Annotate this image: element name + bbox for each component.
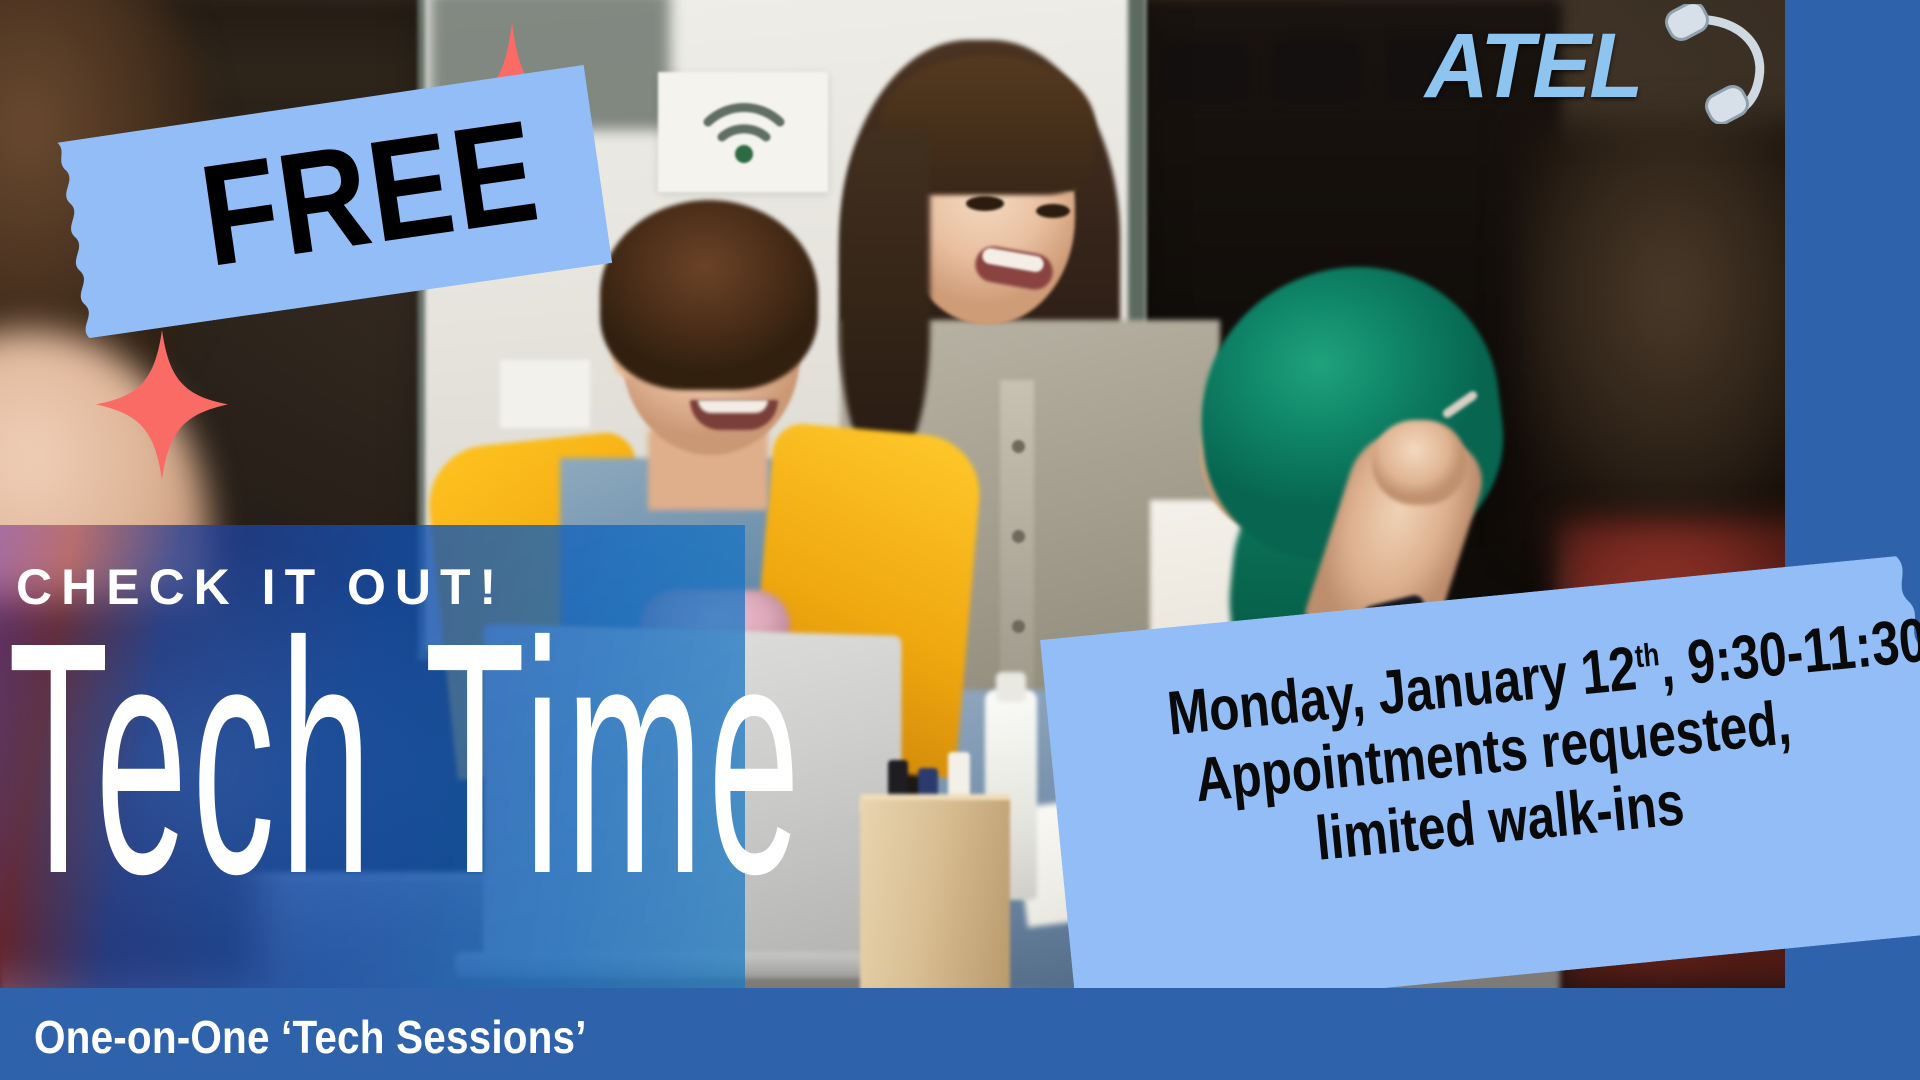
atel-wordmark: ATEL [1425, 14, 1641, 119]
atel-logo: ATEL [1425, 6, 1765, 124]
shirt-button [1012, 440, 1025, 453]
cabinet-square [1270, 38, 1362, 102]
shirt-button [1012, 620, 1025, 633]
man-teeth [698, 400, 768, 413]
wifi-icon [700, 92, 788, 168]
headscarf-woman-hand [1372, 420, 1467, 505]
woman-eye [1036, 204, 1070, 218]
shirt-button [1012, 530, 1025, 543]
man-hair [600, 200, 818, 390]
woman-eye [966, 196, 1004, 211]
poster-canvas: CHECK IT OUT! Tech Time FREE Monday, Jan… [0, 0, 1920, 1080]
bottle-cap [996, 672, 1026, 702]
sparkle-icon [96, 330, 228, 480]
page-title: Tech Time [8, 596, 805, 919]
woman-hair-side [840, 130, 930, 460]
pen-holder [860, 800, 1010, 990]
woman-shirt-placket [1000, 380, 1034, 710]
background-blur-dark [1520, 120, 1820, 550]
telephone-handset-icon [1653, 4, 1775, 124]
footer-caption: One-on-One ‘Tech Sessions’ [34, 1010, 587, 1064]
wall-paper [500, 360, 590, 428]
cabinet-square [1160, 40, 1250, 102]
